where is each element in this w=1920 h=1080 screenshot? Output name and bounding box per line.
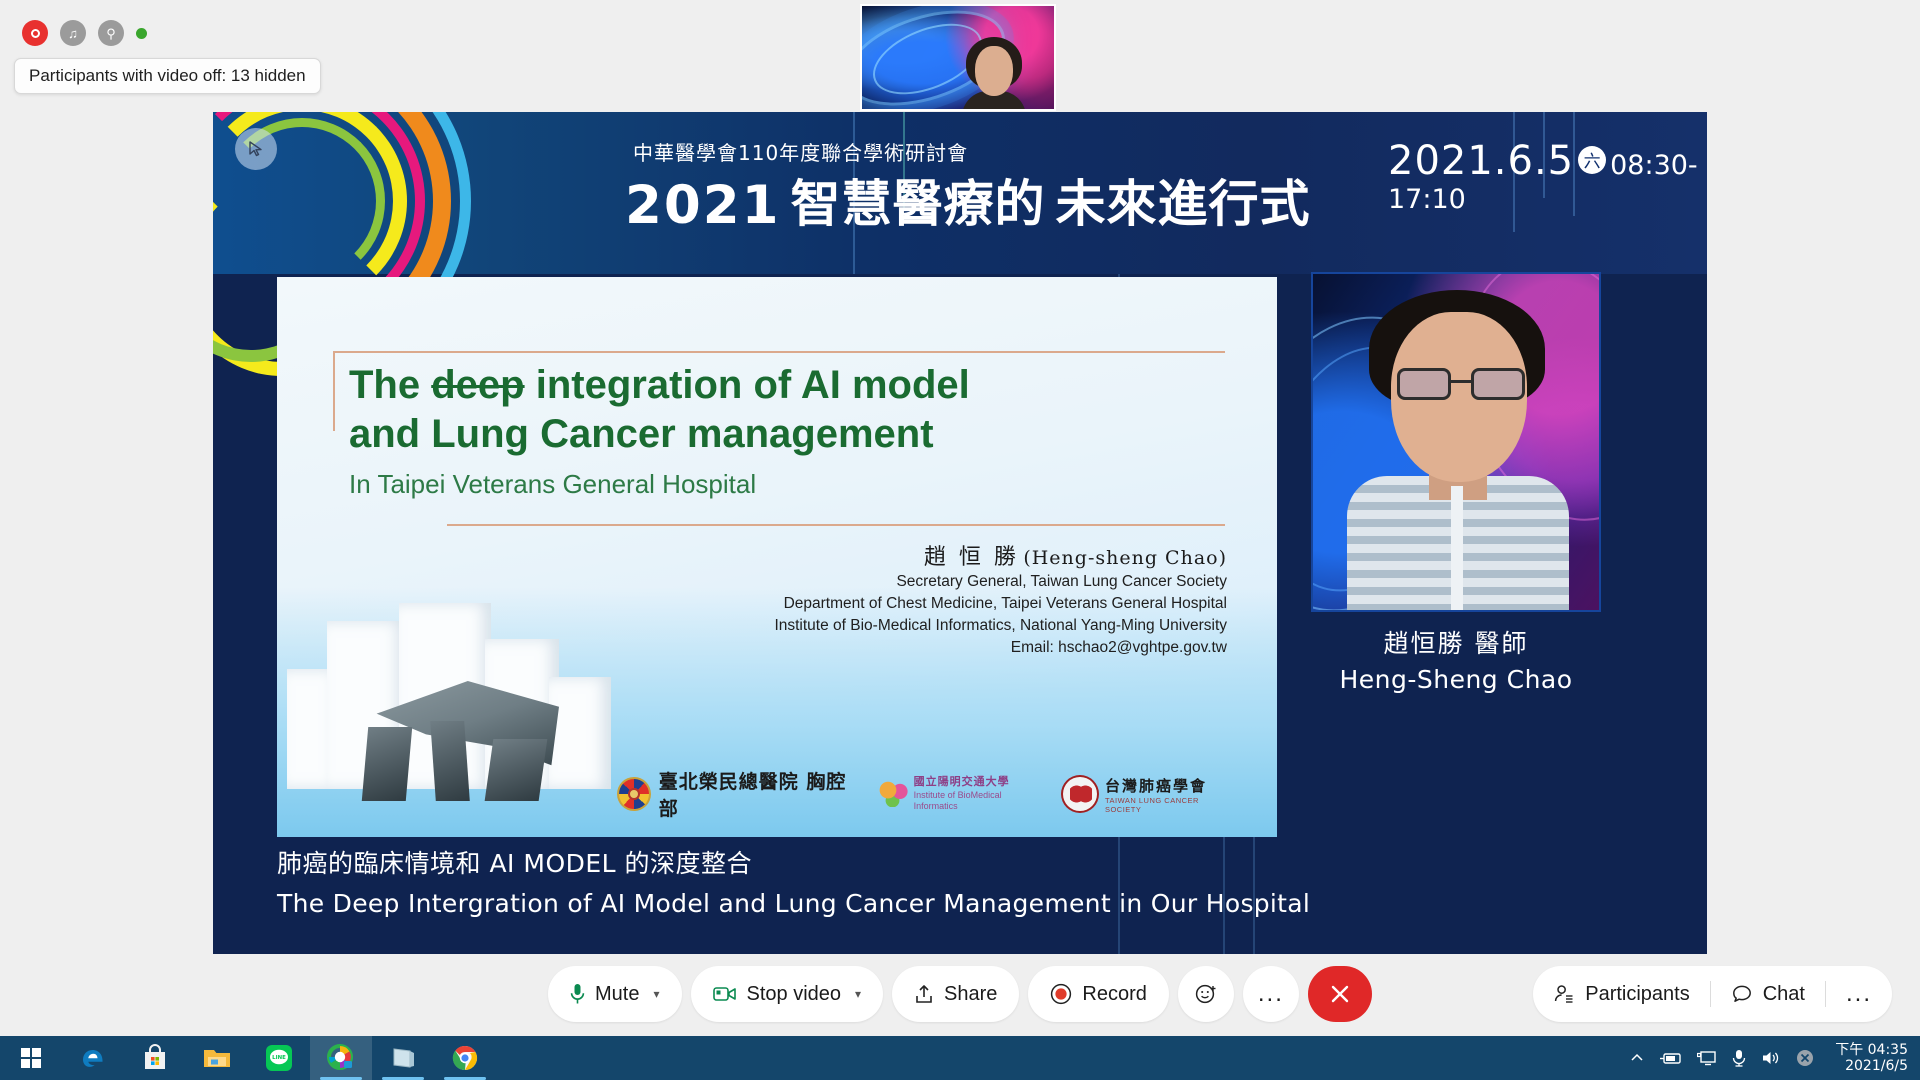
microphone-icon [570,983,585,1005]
slide-divider-top [333,351,1225,353]
chat-button[interactable]: Chat [1711,966,1825,1022]
chevron-up-icon[interactable] [1629,1050,1645,1066]
speaker-name-en: Heng-Sheng Chao [1291,665,1621,694]
close-icon [1329,983,1351,1005]
slide-divider-mid [447,524,1225,526]
mute-button-label: Mute [595,983,639,1006]
right-more-button[interactable]: ... [1826,966,1892,1022]
stop-video-button[interactable]: Stop video ▾ [691,966,884,1022]
banner-title-part2: 未來進行式 [1056,164,1311,236]
author-email: Email: hschao2@vghtpe.gov.tw [657,637,1227,659]
shared-content-stage[interactable]: 中華醫學會110年度聯合學術研討會 2021 智慧醫療的 未來進行式 2021.… [213,112,1707,954]
slide-title: The deep integration of AI model and Lun… [349,361,1229,459]
taskbar-clock[interactable]: 下午 04:35 2021/6/5 [1829,1042,1908,1074]
tlcs-logo-cn: 台灣肺癌學會 [1105,775,1237,796]
record-circle-icon [1050,983,1072,1005]
record-button-label: Record [1082,983,1146,1006]
line-icon: LINE [266,1045,292,1071]
taskbar-item-line[interactable]: LINE [248,1036,310,1080]
cursor-pointer-icon[interactable] [235,128,277,170]
clock-date: 2021/6/5 [1835,1058,1908,1074]
speaker-name-cn: 趙恒勝 醫師 [1291,624,1621,660]
share-upload-icon [914,984,934,1004]
taskbar-item-webex[interactable] [310,1036,372,1080]
music-note-icon[interactable]: ♫ [60,20,86,46]
slide-title-line2: and Lung Cancer management [349,412,934,456]
store-icon [142,1044,168,1072]
slide-subtitle: In Taipei Veterans General Hospital [349,469,756,500]
video-chevron-down-icon[interactable]: ▾ [855,987,861,1001]
caption-en: The Deep Intergration of AI Model and Lu… [277,889,1310,918]
author-affiliation-3: Institute of Bio-Medical Informatics, Na… [657,615,1227,637]
battery-icon[interactable] [1659,1050,1683,1066]
vgh-emblem-icon [617,777,651,811]
caption-cn: 肺癌的臨床情境和 AI MODEL 的深度整合 [277,844,1310,880]
reactions-button[interactable] [1178,966,1234,1022]
microphone-tray-icon[interactable] [1731,1049,1747,1067]
system-tray: 下午 04:35 2021/6/5 [1629,1036,1920,1080]
chat-button-label: Chat [1763,983,1805,1006]
banner-year: 2021 [625,175,781,236]
chrome-icon [451,1044,479,1072]
participants-button-label: Participants [1585,983,1690,1006]
chat-bubble-icon [1731,983,1753,1005]
butterfly-icon [879,781,909,807]
author-affiliation-2: Department of Chest Medicine, Taipei Vet… [657,593,1227,615]
banner-date: 2021.6.5 [1388,138,1574,184]
share-button-label: Share [944,983,997,1006]
meeting-indicators: ♫ ⚲ [22,20,147,46]
mute-chevron-down-icon[interactable]: ▾ [653,987,659,1001]
slide-title-strikethrough: deep [431,363,524,407]
author-affiliation-1: Secretary General, Taiwan Lung Cancer So… [657,571,1227,593]
vgh-logo: 臺北榮民總醫院 胸腔部 [617,767,865,821]
banner-title: 2021 智慧醫療的 未來進行式 [625,164,1311,236]
banner-weekday: 六 [1578,146,1606,174]
ibmi-logo-en: Institute of BioMedical Informatics [914,790,1048,813]
mute-button[interactable]: Mute ▾ [548,966,682,1022]
ibmi-logo: 國立陽明交通大學 Institute of BioMedical Informa… [879,776,1047,812]
clock-time: 下午 04:35 [1835,1042,1908,1058]
volume-icon[interactable] [1761,1049,1781,1067]
folder-icon [203,1046,231,1070]
windows-icon [20,1047,42,1069]
author-name-en: (Heng-sheng Chao) [1023,547,1227,569]
notes-icon [390,1045,416,1071]
start-button[interactable] [0,1036,62,1080]
lung-icon [1061,775,1099,813]
taskbar-apps: LINE [0,1036,496,1080]
author-name-cn: 趙 恒 勝 [924,539,1019,571]
ellipsis-icon: ... [1258,989,1284,999]
record-icon[interactable] [22,20,48,46]
record-button[interactable]: Record [1028,966,1168,1022]
slide-title-post: integration of AI model [525,363,970,407]
slide-divider-left [333,351,335,431]
speaker-person [1347,290,1569,612]
leave-meeting-button[interactable] [1308,966,1372,1022]
taskbar-item-edge[interactable] [62,1036,124,1080]
presentation-slide[interactable]: The deep integration of AI model and Lun… [277,277,1277,837]
banner-date-block: 2021.6.5六08:30-17:10 [1388,138,1707,215]
green-status-dot [136,28,147,39]
glasses-icon [1397,368,1525,402]
video-camera-icon [713,985,737,1003]
display-icon[interactable] [1697,1050,1717,1066]
svg-text:LINE: LINE [272,1055,286,1061]
webex-icon [327,1044,355,1072]
share-button[interactable]: Share [892,966,1019,1022]
taskbar-item-store[interactable] [124,1036,186,1080]
self-view-video[interactable] [860,4,1056,111]
tlcs-logo: 台灣肺癌學會 TAIWAN LUNG CANCER SOCIETY [1061,775,1237,814]
participants-button[interactable]: Participants [1533,966,1710,1022]
meeting-toolbar: Mute ▾ Stop video ▾ Share [0,956,1920,1036]
ibmi-logo-text: 國立陽明交通大學 Institute of BioMedical Informa… [914,776,1048,812]
vgh-logo-text: 臺北榮民總醫院 胸腔部 [659,767,865,821]
stop-video-button-label: Stop video [747,983,842,1006]
tlcs-logo-en: TAIWAN LUNG CANCER SOCIETY [1105,796,1237,814]
smiley-face-icon [1194,982,1218,1006]
tlcs-logo-text: 台灣肺癌學會 TAIWAN LUNG CANCER SOCIETY [1105,775,1237,814]
taskbar-item-sticky-notes[interactable] [372,1036,434,1080]
ibmi-logo-cn: 國立陽明交通大學 [914,776,1048,790]
slide-logo-row: 臺北榮民總醫院 胸腔部 國立陽明交通大學 Institute of BioMed… [617,769,1237,819]
slide-title-pre: The [349,363,431,407]
windows-taskbar: LINE [0,1036,1920,1080]
action-center-disabled-icon[interactable] [1795,1048,1815,1068]
conference-banner: 中華醫學會110年度聯合學術研討會 2021 智慧醫療的 未來進行式 2021.… [213,112,1707,274]
taskbar-item-chrome[interactable] [434,1036,496,1080]
toolbar-right-controls: Participants Chat ... [1533,966,1892,1022]
slide-author-block: 趙 恒 勝 (Heng-sheng Chao) Secretary Genera… [657,539,1227,659]
ellipsis-icon-right: ... [1846,989,1872,999]
banner-subtitle: 中華醫學會110年度聯合學術研討會 [633,137,968,166]
screen-root: ♫ ⚲ Participants with video off: 13 hidd… [0,0,1920,1080]
self-view-person [962,37,1026,111]
hidden-participants-tooltip: Participants with video off: 13 hidden [14,58,321,94]
speaker-video-tile[interactable] [1311,272,1601,612]
banner-title-part1: 智慧醫療的 [791,164,1046,236]
participants-icon [1553,983,1575,1005]
more-options-button[interactable]: ... [1243,966,1299,1022]
slide-caption: 肺癌的臨床情境和 AI MODEL 的深度整合 The Deep Intergr… [277,844,1310,918]
toolbar-center-controls: Mute ▾ Stop video ▾ Share [548,966,1372,1022]
taskbar-item-file-explorer[interactable] [186,1036,248,1080]
speaker-name-label: 趙恒勝 醫師 Heng-Sheng Chao [1291,624,1621,694]
key-icon[interactable]: ⚲ [98,20,124,46]
edge-icon [79,1044,107,1072]
hospital-sculpture [329,681,559,801]
